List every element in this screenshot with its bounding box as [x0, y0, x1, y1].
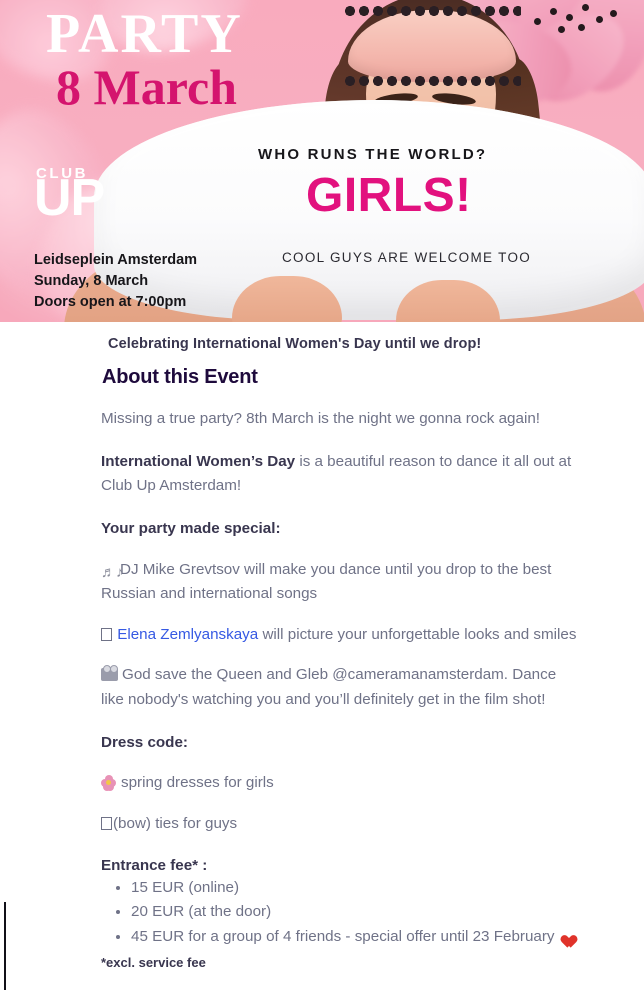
event-description-section: Celebrating International Women's Day un… [0, 322, 644, 970]
logo-up-text: UP [34, 175, 104, 223]
dress-girls-text: spring dresses for girls [121, 774, 274, 791]
entrance-fee-list: 15 EUR (online) 20 EUR (at the door) 45 … [101, 876, 581, 950]
paragraph-photographer: Elena Zemlyanskaya will picture your unf… [101, 623, 581, 648]
club-up-logo: CLUB UP [34, 166, 104, 223]
hero-question: WHO RUNS THE WORLD? [258, 146, 487, 163]
paragraph-videographer: God save the Queen and Gleb @cameramanam… [101, 663, 581, 712]
missing-glyph-box-icon [101, 817, 112, 830]
dress-code-girls: spring dresses for girls [101, 771, 581, 796]
paragraph-womens-day: International Women’s Day is a beautiful… [101, 450, 581, 499]
event-summary: Celebrating International Women's Day un… [108, 336, 644, 352]
hero-subline: COOL GUYS ARE WELCOME TOO [282, 250, 531, 265]
fee-group-text: 45 EUR for a group of 4 friends - specia… [131, 928, 555, 945]
music-notes-icon: ♬♪ [101, 565, 117, 580]
photographer-link[interactable]: Elena Zemlyanskaya [117, 626, 258, 643]
dress-code-heading: Dress code: [101, 731, 581, 756]
paragraph-dj: ♬♪DJ Mike Grevtsov will make you dance u… [101, 558, 581, 607]
venue-line-day: Sunday, 8 March [34, 271, 197, 292]
photographer-rest-text: will picture your unforgettable looks an… [258, 626, 576, 643]
womens-day-bold: International Women’s Day [101, 453, 295, 470]
missing-glyph-box-icon [101, 628, 112, 641]
video-line-text: God save the Queen and Gleb @cameramanam… [101, 666, 556, 708]
hero-answer: GIRLS! [306, 172, 472, 220]
venue-line-address: Leidseplein Amsterdam [34, 250, 197, 271]
red-heart-icon [558, 929, 573, 943]
dress-code-heading-text: Dress code: [101, 734, 188, 751]
list-item: 45 EUR for a group of 4 friends - specia… [131, 925, 581, 950]
movie-camera-icon [101, 668, 118, 681]
dj-line-text: DJ Mike Grevtsov will make you dance unt… [101, 561, 551, 603]
list-item: 20 EUR (at the door) [131, 900, 581, 925]
paragraph-intro: Missing a true party? 8th March is the n… [101, 407, 581, 432]
dress-guys-text: (bow) ties for guys [113, 815, 237, 832]
event-banner-image: PARTY 8 March CLUB UP Leidseplein Amster… [0, 0, 644, 322]
event-body: Missing a true party? 8th March is the n… [101, 407, 581, 970]
banner-title: PARTY [46, 6, 243, 62]
list-item: 15 EUR (online) [131, 876, 581, 901]
special-heading-text: Your party made special: [101, 520, 281, 537]
venue-details: Leidseplein Amsterdam Sunday, 8 March Do… [34, 250, 197, 313]
cherry-blossom-icon [101, 775, 116, 790]
special-heading: Your party made special: [101, 517, 581, 542]
entrance-fee-heading: Entrance fee* : [101, 857, 581, 874]
banner-date: 8 March [56, 62, 237, 112]
about-this-event-heading: About this Event [102, 366, 644, 389]
venue-line-doors: Doors open at 7:00pm [34, 292, 197, 313]
dress-code-guys: (bow) ties for guys [101, 812, 581, 837]
entrance-fee-note: *excl. service fee [101, 955, 581, 970]
left-edge-rule [4, 902, 6, 990]
